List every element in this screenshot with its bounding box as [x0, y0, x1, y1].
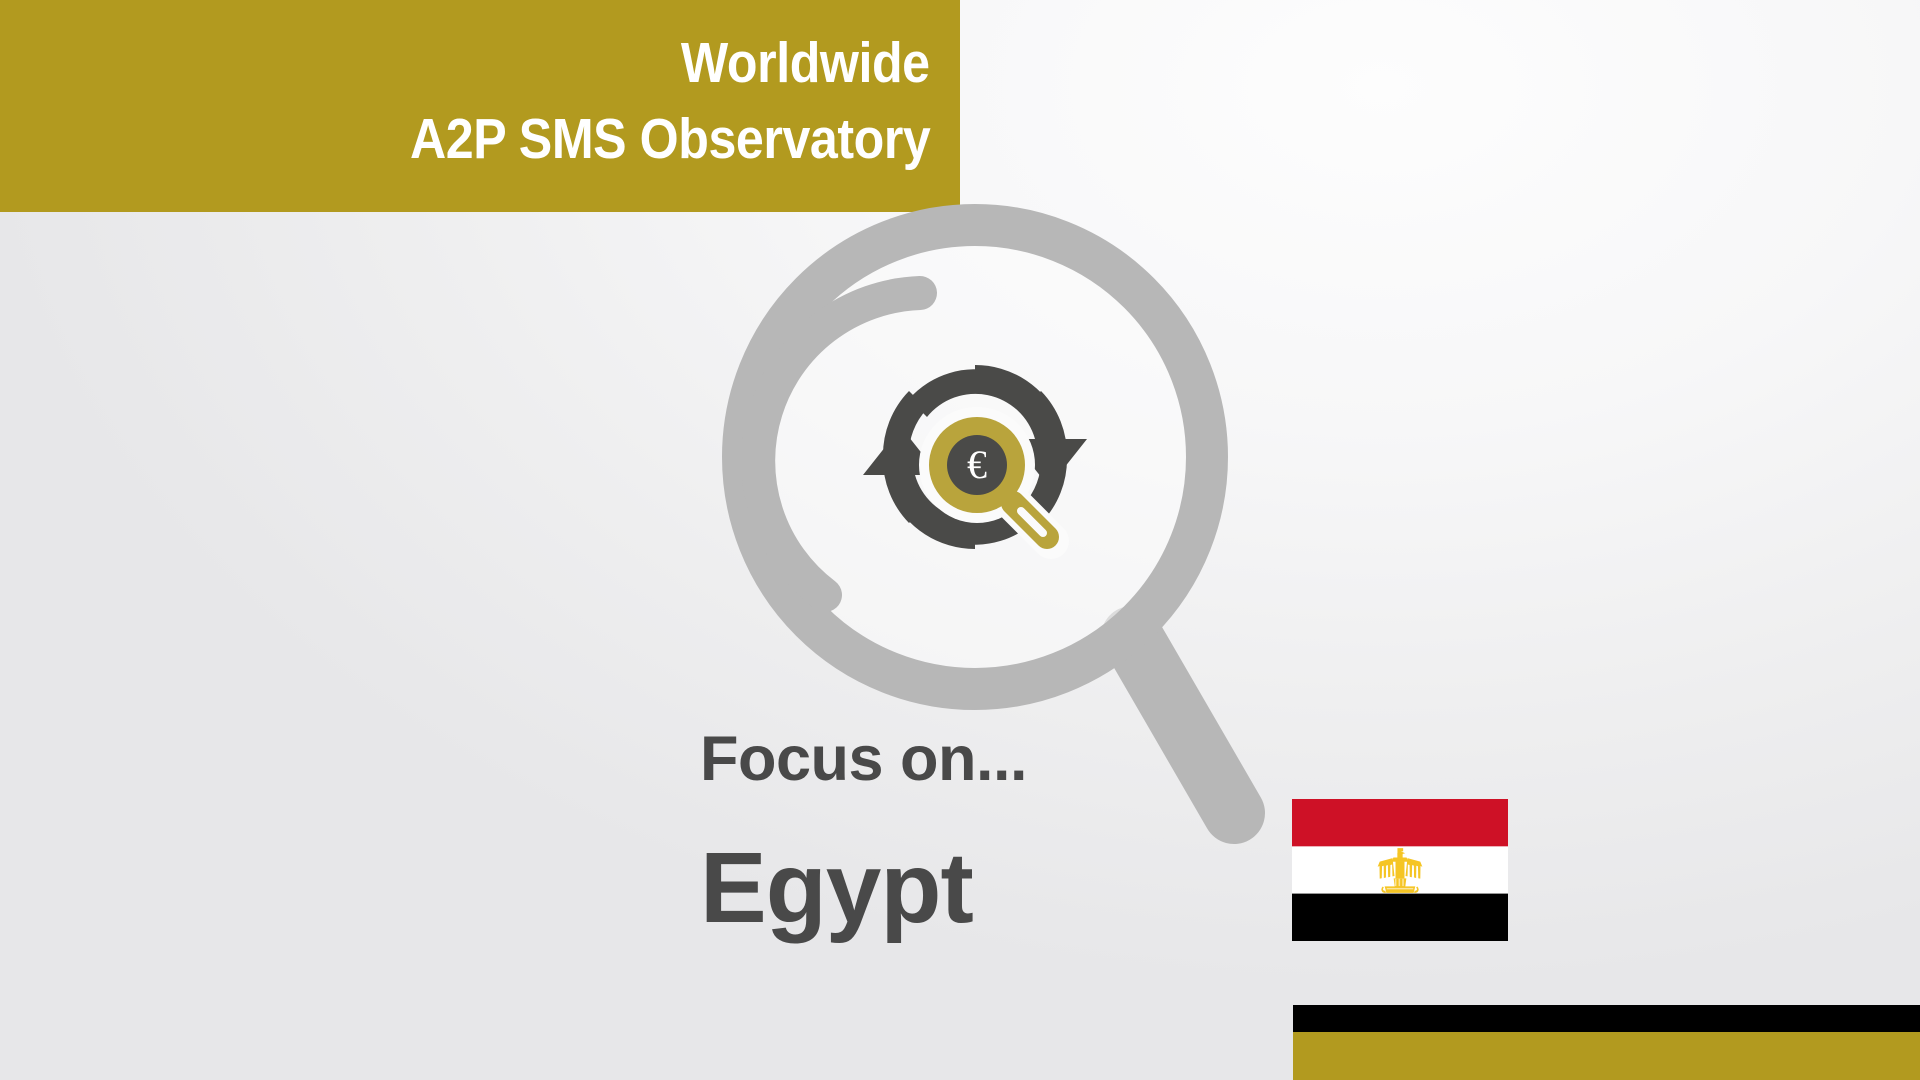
footer-gold-bar: [1293, 1032, 1920, 1080]
egypt-flag: [1292, 799, 1508, 941]
slide-canvas: Worldwide A2P SMS Observatory: [0, 0, 1920, 1080]
header-banner: Worldwide A2P SMS Observatory: [0, 0, 960, 212]
focus-on-label: Focus on...: [700, 728, 1027, 791]
footer-black-bar: [1293, 1005, 1920, 1032]
country-name-label: Egypt: [700, 838, 973, 938]
banner-title-line-2: A2P SMS Observatory: [410, 102, 930, 178]
flag-stripe-red: [1292, 799, 1508, 846]
euro-symbol-glyph: €: [967, 442, 987, 487]
banner-title-line-1: Worldwide: [681, 26, 930, 102]
flag-stripe-black: [1292, 894, 1508, 941]
